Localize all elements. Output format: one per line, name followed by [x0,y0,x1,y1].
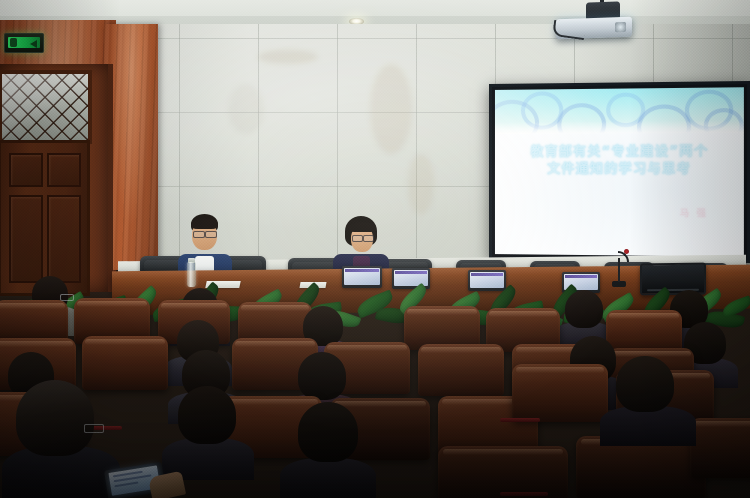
auditorium-seat[interactable] [418,344,504,396]
audience-head [298,402,358,462]
seat-accent-trim [500,418,540,422]
ceiling-soffit [0,0,750,16]
exit-sign [4,33,44,53]
audience-member-15 [600,356,696,442]
slide-decorative-banner [495,87,744,134]
laptop[interactable] [468,270,506,291]
laptop-screen [344,268,380,285]
laptop-screen [394,270,428,286]
projection-screen-surface: 教育部有关“专业建设”两个 文件通知的学习与思考 马 强 [495,87,744,256]
slide-title: 教育部有关“专业建设”两个 文件通知的学习与思考 [501,143,740,178]
door-transom-window [0,70,92,144]
audience-head [298,352,346,400]
laptop[interactable] [342,266,382,288]
laptop-titlebar [471,273,503,276]
audience-member-13 [162,386,254,476]
laptop[interactable] [392,268,430,289]
hall-entrance-door[interactable] [0,64,113,292]
audience-shoulders [280,458,376,498]
document-papers [205,281,240,288]
laptop-screen [470,272,504,288]
door-panel [47,195,81,283]
audience-head [565,290,603,328]
laptop-screen [564,274,598,290]
auditorium-seat[interactable] [690,418,750,478]
audience-head [616,356,674,412]
banner-fade [495,120,744,134]
door-panel [9,153,43,187]
slide-title-line-2: 文件通知的学习与思考 [501,161,740,179]
water-bottle [187,262,196,287]
audience-member-6 [8,380,116,498]
laptop-titlebar [395,271,427,274]
seat-accent-trim [500,492,548,496]
eyeglasses-icon [205,231,217,238]
eyeglasses-icon [193,231,205,238]
eyeglasses-icon [363,235,374,242]
document-papers [299,282,326,288]
slide-title-line-1: 教育部有关“专业建设”两个 [501,143,740,161]
female-speaker-fringe [349,222,376,232]
audience-member-14 [280,402,376,498]
door-slab[interactable] [0,140,90,296]
audience-shoulders [600,406,696,446]
slide-author: 马 强 [680,206,708,219]
door-panel [47,153,81,187]
door-panel [9,195,43,283]
laptop-titlebar [345,269,379,272]
eyeglasses-icon [84,424,104,433]
projector-lens-icon [615,22,626,32]
laptop-titlebar [565,275,597,278]
eyeglasses-icon [352,235,363,242]
auditorium-seat[interactable] [438,446,568,498]
projection-screen: 教育部有关“专业建设”两个 文件通知的学习与思考 马 强 [489,81,750,263]
conference-hall-photo: 教育部有关“专业建设”两个 文件通知的学习与思考 马 强 [0,0,750,498]
audience-head [16,380,94,456]
auditorium-seat[interactable] [512,364,608,422]
running-man-exit-icon [10,38,17,47]
exit-arrow-icon [30,40,37,48]
transom-light-reflection [2,74,88,140]
tablet-content-line [114,482,138,488]
audience-head [178,386,236,444]
male-speaker-fringe [191,218,218,229]
microphone-head-icon [624,249,629,254]
